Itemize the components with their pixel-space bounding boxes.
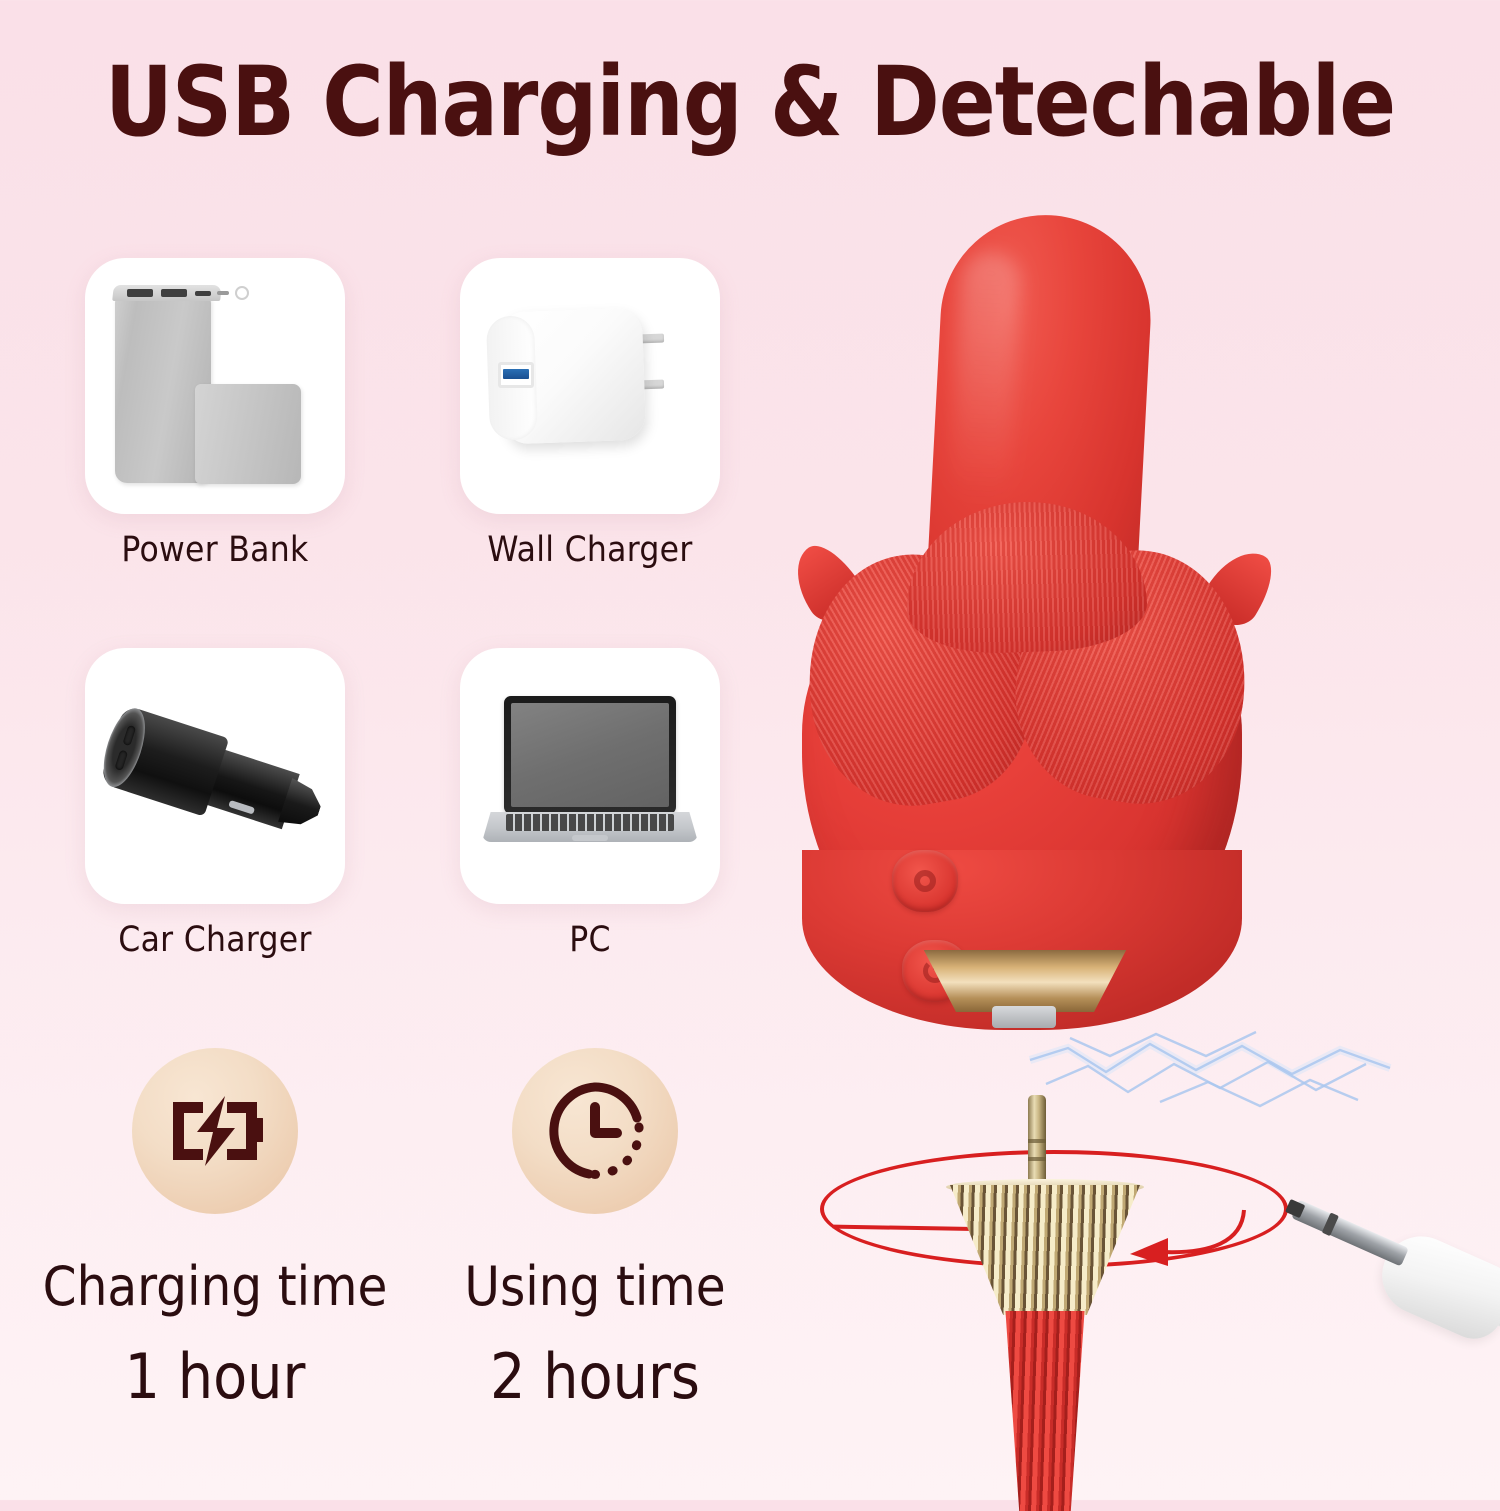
stat-badge-using-time bbox=[512, 1048, 678, 1214]
power-bank-micro-port bbox=[217, 291, 229, 295]
charging-cable-pin-connector bbox=[1291, 1199, 1409, 1266]
product-mode-button[interactable] bbox=[892, 850, 958, 912]
wall-charger-usb-a-port bbox=[498, 362, 534, 388]
power-bank-button bbox=[235, 286, 249, 300]
product-image-rose-vibrator bbox=[760, 150, 1500, 1500]
product-magnetic-connector bbox=[992, 1006, 1056, 1028]
battery-charging-icon bbox=[167, 1092, 263, 1170]
mode-ring-icon bbox=[914, 870, 936, 892]
clock-icon bbox=[543, 1079, 647, 1183]
charging-source-label-power-bank: Power Bank bbox=[65, 530, 365, 570]
attachment-red-stem bbox=[1002, 1311, 1088, 1511]
power-bank-icon bbox=[85, 258, 345, 514]
power-bank-secondary-block bbox=[195, 384, 301, 484]
product-charging-cable bbox=[1230, 1205, 1500, 1485]
stat-title-using-time: Using time bbox=[385, 1255, 805, 1318]
attachment-gold-cup bbox=[950, 1185, 1140, 1315]
charging-source-card-power-bank[interactable] bbox=[85, 258, 345, 514]
power-bank-usb-port-1 bbox=[127, 289, 153, 297]
charging-source-card-pc[interactable] bbox=[460, 648, 720, 904]
stat-badge-charging-time bbox=[132, 1048, 298, 1214]
laptop-icon bbox=[460, 648, 720, 904]
laptop-screen bbox=[511, 703, 669, 807]
charging-source-label-pc: PC bbox=[440, 920, 740, 960]
stat-value-using-time: 2 hours bbox=[385, 1340, 805, 1413]
stat-title-charging-time: Charging time bbox=[5, 1255, 425, 1318]
laptop-trackpad bbox=[572, 835, 608, 841]
charging-source-label-car-charger: Car Charger bbox=[65, 920, 365, 960]
power-bank-usb-port-2 bbox=[161, 289, 187, 297]
charging-source-card-wall-charger[interactable] bbox=[460, 258, 720, 514]
electric-spark-effect bbox=[1010, 1026, 1430, 1136]
stat-value-charging-time: 1 hour bbox=[5, 1340, 425, 1413]
infographic-canvas: USB Charging & Detechable Power Bank Wal… bbox=[0, 0, 1500, 1500]
power-bank-usbc-port bbox=[195, 291, 211, 296]
wall-charger-icon bbox=[460, 258, 720, 514]
laptop-keyboard bbox=[506, 814, 674, 831]
product-detachable-attachment bbox=[950, 1185, 1140, 1505]
charging-source-card-car-charger[interactable] bbox=[85, 648, 345, 904]
car-charger-icon bbox=[85, 648, 345, 904]
laptop-lid bbox=[504, 696, 676, 814]
page-title: USB Charging & Detechable bbox=[23, 46, 1478, 158]
charging-source-label-wall-charger: Wall Charger bbox=[440, 530, 740, 570]
